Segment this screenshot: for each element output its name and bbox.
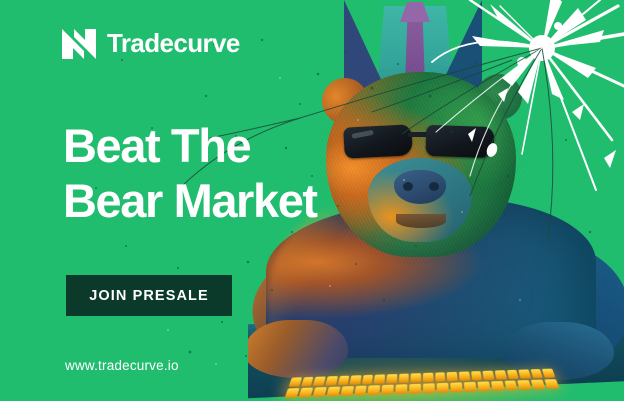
keyboard-key: [504, 380, 518, 390]
keyboard-key: [326, 387, 340, 397]
keyboard-key: [423, 383, 435, 393]
website-url-link[interactable]: www.tradecurve.io: [65, 358, 179, 373]
keyboard-key: [395, 384, 407, 394]
keyboard-key: [354, 386, 367, 396]
keyboard-key: [483, 371, 495, 380]
sunglasses-lens-left: [343, 124, 413, 159]
keyboard-key: [518, 380, 532, 390]
keyboard-key: [437, 383, 449, 393]
keyboard-key: [531, 380, 546, 390]
keyboard-key: [374, 374, 385, 383]
keyboard-key: [298, 388, 313, 398]
bear-nostril-right: [429, 182, 439, 191]
keyboard-key: [313, 376, 326, 386]
keyboard-key: [411, 373, 421, 382]
keyboard-key: [350, 375, 362, 384]
keyboard-key: [362, 375, 373, 384]
keyboard-key: [325, 376, 337, 386]
lens-glint: [351, 130, 374, 139]
sunglasses-icon: [344, 126, 496, 160]
keyboard-key: [495, 370, 507, 379]
keyboard-key: [477, 381, 490, 391]
keyboard-key: [301, 377, 314, 387]
keyboard-key: [491, 381, 505, 391]
keyboard-key: [423, 373, 433, 382]
keyboard-key: [382, 385, 395, 395]
keyboard-key: [471, 371, 483, 380]
keyboard-key: [450, 382, 463, 392]
tradecurve-n-mark-icon: [62, 29, 96, 59]
keyboard-key: [285, 388, 300, 398]
keyboard-key: [340, 386, 354, 396]
keyboard-key: [518, 369, 531, 378]
brand-name: Tradecurve: [107, 28, 240, 59]
page-title: Beat The Bear Market: [63, 119, 317, 228]
keyboard-key: [447, 372, 458, 381]
keyboard-key: [506, 370, 518, 379]
keyboard-key: [312, 387, 326, 397]
keyboard-key: [409, 384, 421, 394]
bear-mouth: [396, 214, 446, 228]
keyboard-key: [337, 376, 349, 385]
keyboard-key: [386, 374, 397, 383]
keyboard-key: [530, 369, 543, 378]
keyboard-key: [399, 374, 410, 383]
bear-hand-left: [248, 320, 348, 378]
join-presale-button[interactable]: JOIN PRESALE: [66, 275, 232, 316]
keyboard-key: [464, 382, 477, 392]
keyboard-key: [435, 372, 446, 381]
keyboard-key: [459, 371, 470, 380]
brand-logo[interactable]: Tradecurve: [62, 28, 240, 59]
tradecurve-presale-banner: Tradecurve Beat The Bear Market JOIN PRE…: [0, 0, 624, 401]
sunglasses-lens-right: [425, 125, 494, 158]
keyboard-key: [289, 377, 302, 387]
bear-nostril-left: [403, 182, 413, 191]
keyboard-key: [368, 385, 381, 395]
